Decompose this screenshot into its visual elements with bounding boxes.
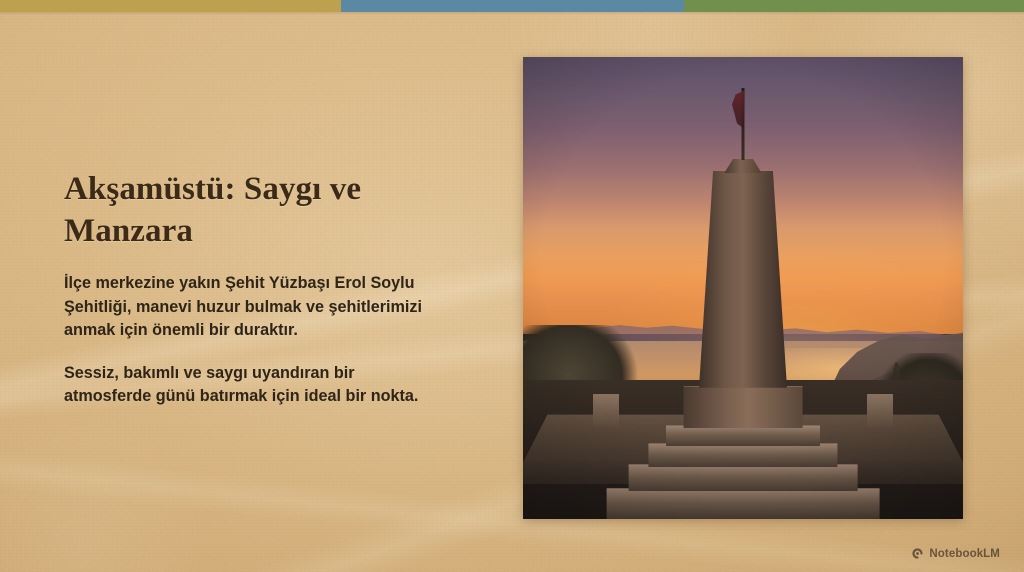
- stone-post-left: [593, 394, 619, 426]
- body-paragraph-1: İlçe merkezine yakın Şehit Yüzbaşı Erol …: [64, 272, 444, 341]
- top-bar-shadow: [0, 12, 1024, 15]
- obelisk-monument: [699, 171, 787, 388]
- color-bar-segment-green: [684, 0, 1024, 12]
- monument-step-1: [607, 488, 880, 519]
- stone-post-right: [867, 394, 893, 426]
- page-title: Akşamüstü: Saygı ve Manzara: [64, 168, 444, 252]
- monument-step-2: [629, 464, 858, 491]
- notebooklm-watermark: NotebookLM: [911, 547, 1000, 560]
- photo-scene: [523, 57, 963, 519]
- presentation-slide: Akşamüstü: Saygı ve Manzara İlçe merkezi…: [0, 0, 1024, 572]
- slide-photo: [523, 57, 963, 519]
- notebooklm-icon: [911, 547, 924, 560]
- monument-plinth: [684, 386, 803, 429]
- notebooklm-label: NotebookLM: [929, 548, 1000, 560]
- color-bar-segment-gold: [0, 0, 341, 12]
- body-paragraph-2: Sessiz, bakımlı ve saygı uyandıran bir a…: [64, 362, 444, 408]
- color-bar-segment-blue: [341, 0, 684, 12]
- monument-step-3: [648, 443, 837, 467]
- top-color-bar: [0, 0, 1024, 12]
- slide-text-column: Akşamüstü: Saygı ve Manzara İlçe merkezi…: [64, 168, 444, 408]
